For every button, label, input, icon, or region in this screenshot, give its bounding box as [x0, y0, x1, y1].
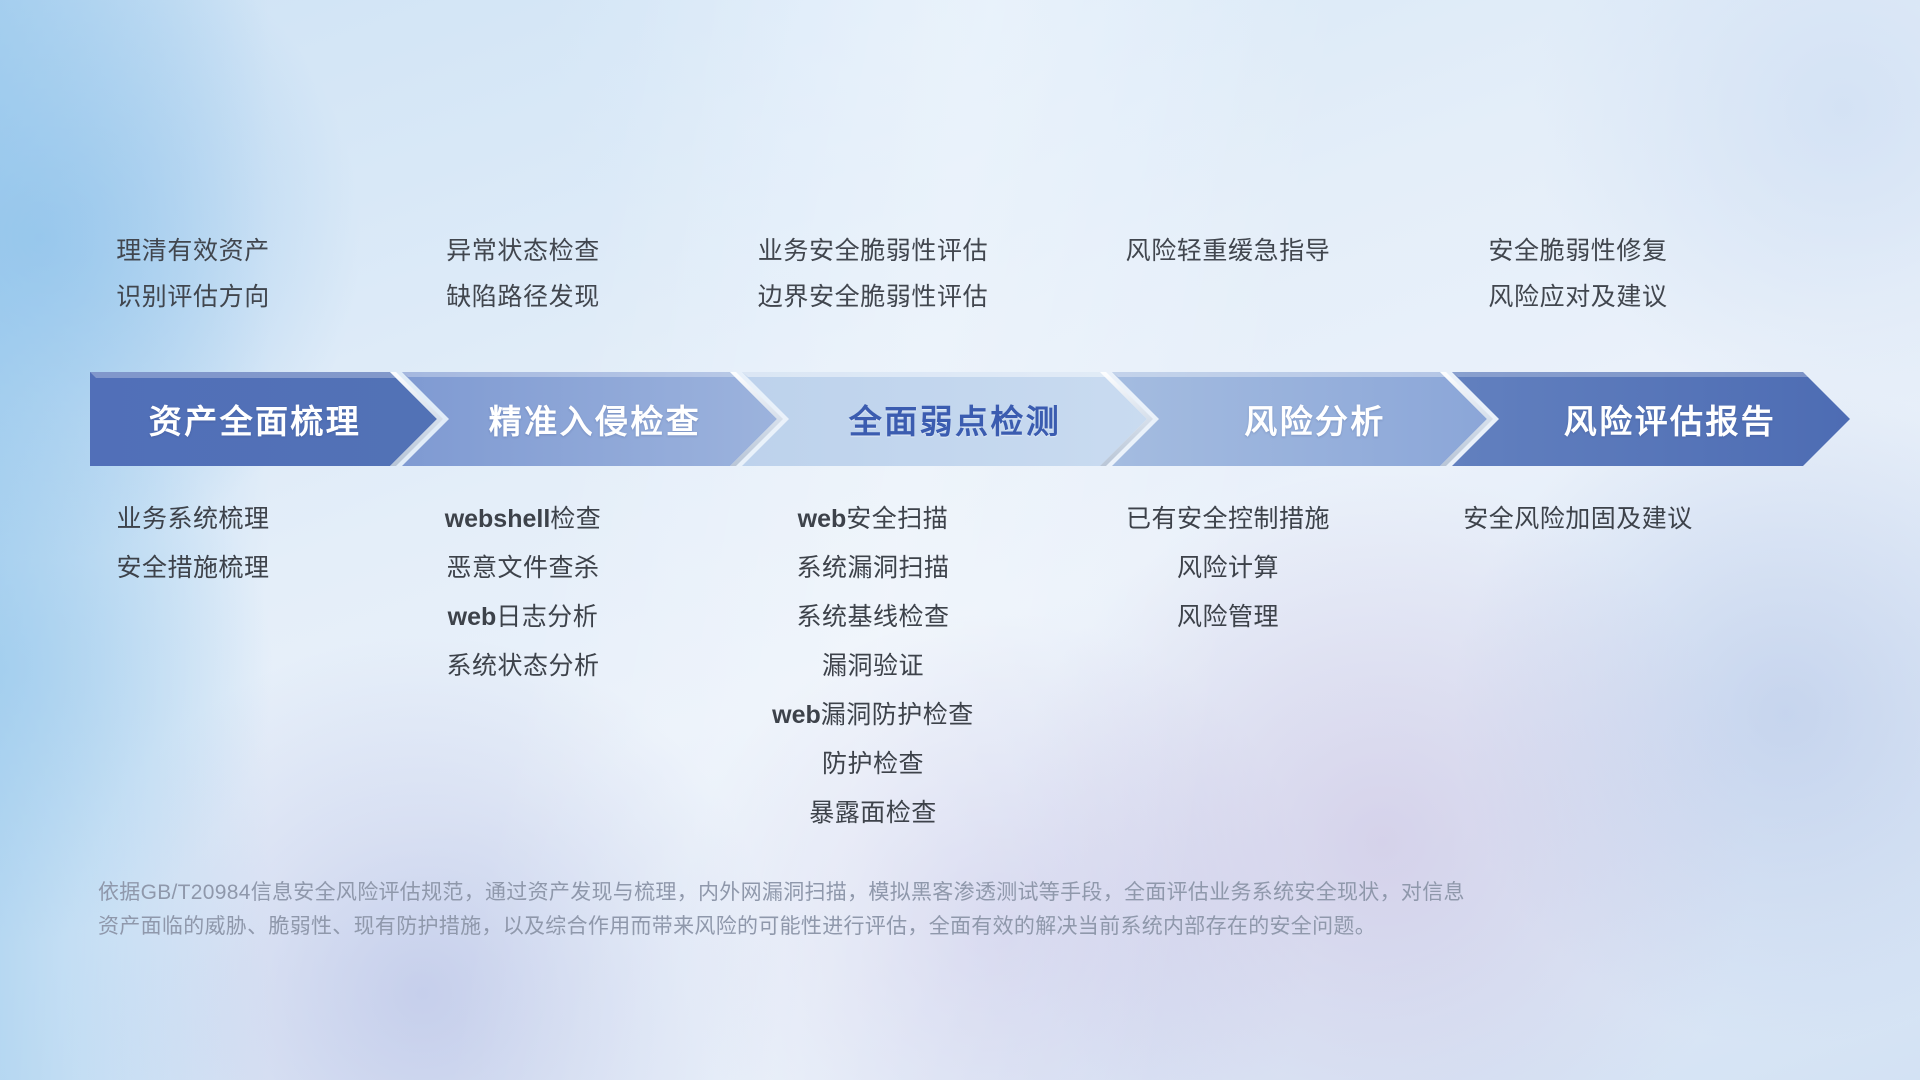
top-note: 业务安全脆弱性评估	[688, 228, 1058, 274]
top-note: 边界安全脆弱性评估	[688, 274, 1058, 320]
bottom-note: 系统漏洞扫描	[688, 544, 1058, 593]
top-notes-risk-report: 安全脆弱性修复 风险应对及建议	[1398, 228, 1758, 348]
bottom-note: 漏洞验证	[688, 642, 1058, 691]
bottom-notes-risk-report: 安全风险加固及建议	[1398, 495, 1758, 838]
stage-label-weakness-detection[interactable]: 全面弱点检测	[770, 372, 1140, 466]
bottom-note: webshell检查	[358, 495, 688, 544]
top-notes-asset-inventory: 理清有效资产 识别评估方向	[28, 228, 358, 348]
bottom-note: 安全风险加固及建议	[1398, 495, 1758, 544]
bottom-note: web日志分析	[358, 593, 688, 642]
stage-label-risk-analysis[interactable]: 风险分析	[1140, 372, 1490, 466]
top-notes-row: 理清有效资产 识别评估方向 异常状态检查 缺陷路径发现 业务安全脆弱性评估 边界…	[0, 228, 1920, 348]
bottom-note: 已有安全控制措施	[1058, 495, 1398, 544]
bottom-note: 风险管理	[1058, 593, 1398, 642]
bottom-note: 业务系统梳理	[28, 495, 358, 544]
top-note: 理清有效资产	[28, 228, 358, 274]
top-note: 识别评估方向	[28, 274, 358, 320]
top-note: 缺陷路径发现	[358, 274, 688, 320]
bottom-notes-row: 业务系统梳理 安全措施梳理 webshell检查 恶意文件查杀 web日志分析 …	[0, 495, 1920, 838]
bottom-note: web安全扫描	[688, 495, 1058, 544]
top-notes-intrusion-check: 异常状态检查 缺陷路径发现	[358, 228, 688, 348]
bottom-note: 风险计算	[1058, 544, 1398, 593]
stage-label-intrusion-check[interactable]: 精准入侵检查	[420, 372, 770, 466]
bottom-notes-weakness-detection: web安全扫描 系统漏洞扫描 系统基线检查 漏洞验证 web漏洞防护检查 防护检…	[688, 495, 1058, 838]
bottom-notes-risk-analysis: 已有安全控制措施 风险计算 风险管理	[1058, 495, 1398, 838]
bottom-note: 防护检查	[688, 740, 1058, 789]
footer-line-2: 资产面临的威胁、脆弱性、现有防护措施，以及综合作用而带来风险的可能性进行评估，全…	[98, 910, 1718, 944]
top-note: 风险轻重缓急指导	[1058, 228, 1398, 274]
bottom-note: 恶意文件查杀	[358, 544, 688, 593]
top-notes-risk-analysis: 风险轻重缓急指导	[1058, 228, 1398, 348]
bottom-note: 暴露面检查	[688, 789, 1058, 838]
infographic-canvas: 理清有效资产 识别评估方向 异常状态检查 缺陷路径发现 业务安全脆弱性评估 边界…	[0, 0, 1920, 1080]
bottom-notes-asset-inventory: 业务系统梳理 安全措施梳理	[28, 495, 358, 838]
stage-label-risk-report[interactable]: 风险评估报告	[1490, 372, 1850, 466]
stage-label-asset-inventory[interactable]: 资产全面梳理	[90, 372, 420, 466]
top-note: 安全脆弱性修复	[1398, 228, 1758, 274]
bottom-note: 安全措施梳理	[28, 544, 358, 593]
top-notes-weakness-detection: 业务安全脆弱性评估 边界安全脆弱性评估	[688, 228, 1058, 348]
bottom-note: web漏洞防护检查	[688, 691, 1058, 740]
bottom-note: 系统状态分析	[358, 642, 688, 691]
top-note: 异常状态检查	[358, 228, 688, 274]
process-chevron-band: 资产全面梳理 精准入侵检查 全面弱点检测 风险分析 风险评估报告	[90, 372, 1850, 466]
bottom-note: 系统基线检查	[688, 593, 1058, 642]
top-note: 风险应对及建议	[1398, 274, 1758, 320]
footer-description: 依据GB/T20984信息安全风险评估规范，通过资产发现与梳理，内外网漏洞扫描，…	[98, 876, 1718, 944]
bottom-notes-intrusion-check: webshell检查 恶意文件查杀 web日志分析 系统状态分析	[358, 495, 688, 838]
footer-line-1: 依据GB/T20984信息安全风险评估规范，通过资产发现与梳理，内外网漏洞扫描，…	[98, 876, 1718, 910]
